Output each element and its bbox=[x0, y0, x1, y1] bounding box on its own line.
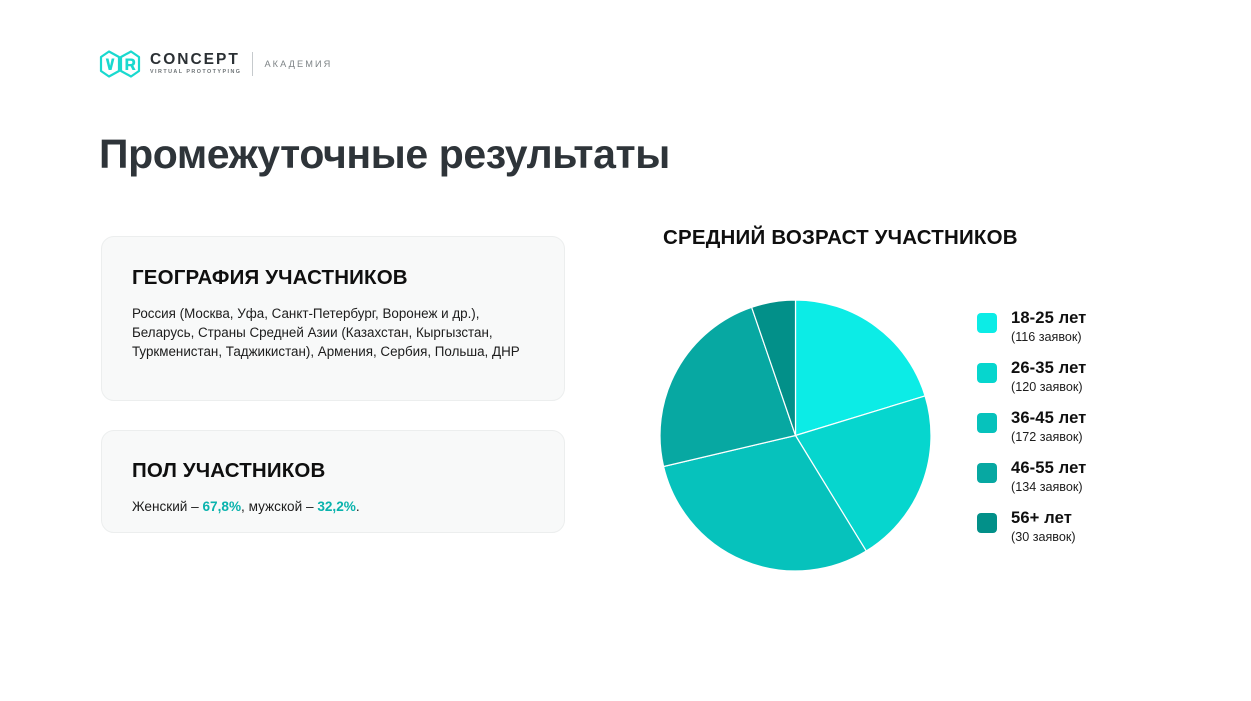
gender-female-value: 67,8% bbox=[203, 499, 242, 514]
gender-period: . bbox=[356, 499, 360, 514]
legend-item-3[interactable]: 36-45 лет(172 заявок) bbox=[977, 410, 1187, 460]
pie-chart-svg bbox=[660, 300, 931, 571]
brand-logo: CONCEPT VIRTUAL PROTOTYPING АКАДЕМИЯ bbox=[99, 50, 332, 78]
gender-separator: , мужской – bbox=[241, 499, 317, 514]
card-geography: ГЕОГРАФИЯ УЧАСТНИКОВ Россия (Москва, Уфа… bbox=[101, 236, 565, 401]
brand-name-sub: VIRTUAL PROTOTYPING bbox=[150, 70, 241, 75]
pie-slice-group bbox=[660, 300, 931, 571]
vr-cube-logo-icon bbox=[99, 50, 141, 78]
legend-label: 36-45 лет bbox=[1011, 410, 1086, 427]
legend-text-group: 46-55 лет(134 заявок) bbox=[1011, 460, 1086, 493]
legend-swatch-icon bbox=[977, 313, 997, 333]
legend-item-5[interactable]: 56+ лет(30 заявок) bbox=[977, 510, 1187, 560]
legend-text-group: 18-25 лет(116 заявок) bbox=[1011, 310, 1086, 343]
chart-title: СРЕДНИЙ ВОЗРАСТ УЧАСТНИКОВ bbox=[663, 226, 1018, 250]
legend-swatch-icon bbox=[977, 413, 997, 433]
legend-count: (30 заявок) bbox=[1011, 531, 1076, 544]
legend-count: (134 заявок) bbox=[1011, 481, 1086, 494]
legend-text-group: 36-45 лет(172 заявок) bbox=[1011, 410, 1086, 443]
legend-text-group: 56+ лет(30 заявок) bbox=[1011, 510, 1076, 543]
brand-name-main: CONCEPT bbox=[150, 52, 241, 68]
legend-swatch-icon bbox=[977, 513, 997, 533]
page-title: Промежуточные результаты bbox=[99, 131, 670, 178]
legend-label: 56+ лет bbox=[1011, 510, 1076, 527]
card-geography-heading: ГЕОГРАФИЯ УЧАСТНИКОВ bbox=[132, 266, 534, 290]
brand-wordmark: CONCEPT VIRTUAL PROTOTYPING АКАДЕМИЯ bbox=[150, 52, 332, 76]
legend-item-4[interactable]: 46-55 лет(134 заявок) bbox=[977, 460, 1187, 510]
brand-suffix: АКАДЕМИЯ bbox=[264, 59, 332, 69]
brand-name-group: CONCEPT VIRTUAL PROTOTYPING bbox=[150, 52, 241, 75]
legend-label: 26-35 лет bbox=[1011, 360, 1086, 377]
gender-female-label: Женский – bbox=[132, 499, 203, 514]
card-gender-heading: ПОЛ УЧАСТНИКОВ bbox=[132, 459, 534, 483]
legend-count: (116 заявок) bbox=[1011, 331, 1086, 344]
card-gender-body: Женский – 67,8%, мужской – 32,2%. bbox=[132, 497, 524, 516]
legend-swatch-icon bbox=[977, 363, 997, 383]
pie-chart bbox=[660, 300, 931, 571]
legend-item-1[interactable]: 18-25 лет(116 заявок) bbox=[977, 310, 1187, 360]
gender-male-value: 32,2% bbox=[317, 499, 356, 514]
legend-swatch-icon bbox=[977, 463, 997, 483]
legend-count: (172 заявок) bbox=[1011, 431, 1086, 444]
legend-label: 46-55 лет bbox=[1011, 460, 1086, 477]
brand-divider bbox=[252, 52, 253, 76]
legend-text-group: 26-35 лет(120 заявок) bbox=[1011, 360, 1086, 393]
legend-label: 18-25 лет bbox=[1011, 310, 1086, 327]
legend-item-2[interactable]: 26-35 лет(120 заявок) bbox=[977, 360, 1187, 410]
card-gender: ПОЛ УЧАСТНИКОВ Женский – 67,8%, мужской … bbox=[101, 430, 565, 533]
legend-count: (120 заявок) bbox=[1011, 381, 1086, 394]
slide-canvas: CONCEPT VIRTUAL PROTOTYPING АКАДЕМИЯ Про… bbox=[0, 0, 1251, 701]
chart-legend: 18-25 лет(116 заявок)26-35 лет(120 заяво… bbox=[977, 310, 1187, 560]
card-geography-body: Россия (Москва, Уфа, Санкт-Петербург, Во… bbox=[132, 304, 524, 362]
